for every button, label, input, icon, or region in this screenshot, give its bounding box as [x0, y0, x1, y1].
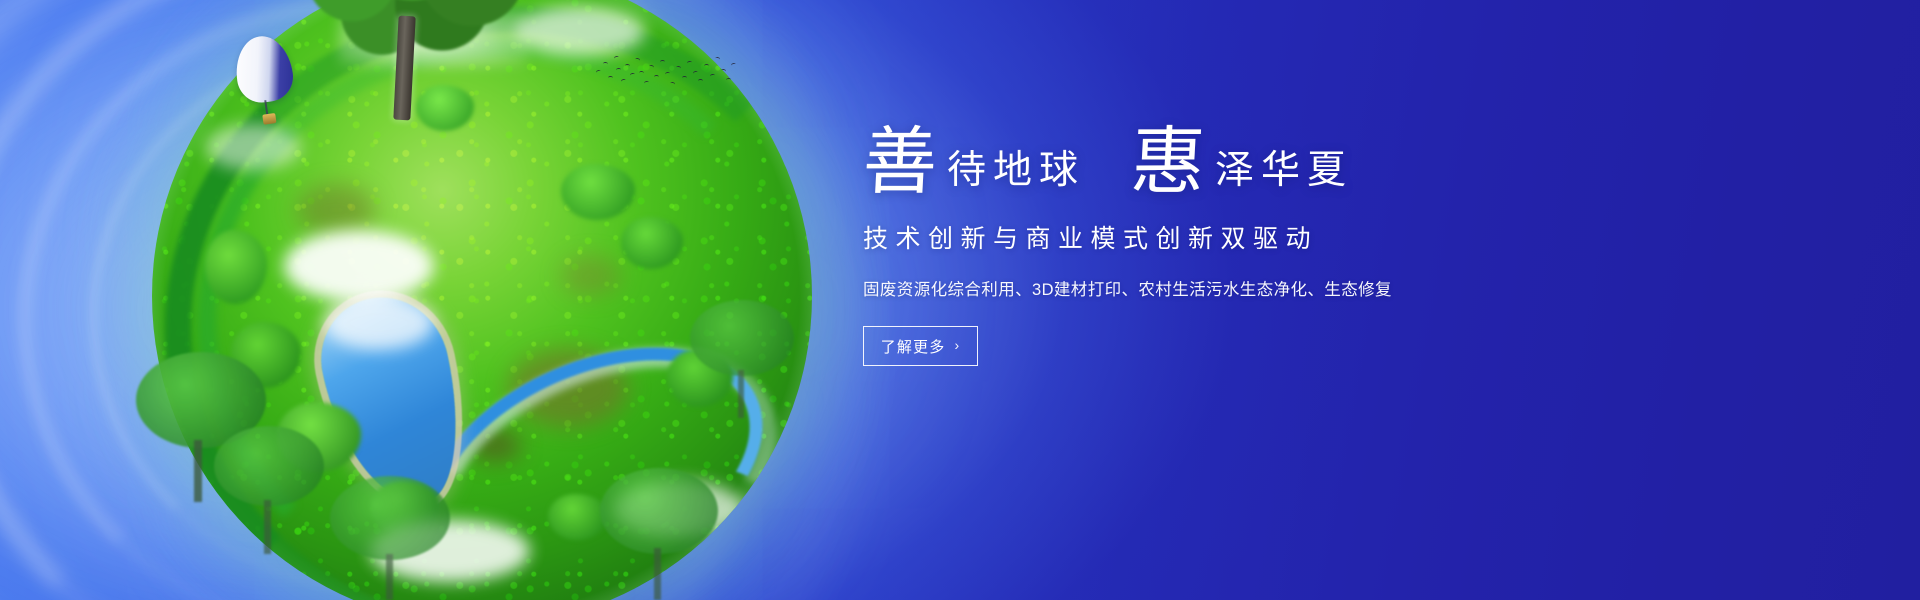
bird-icon	[595, 69, 601, 74]
bird-icon	[603, 62, 608, 66]
balloon-envelope	[232, 33, 297, 106]
bird-flock-icon	[594, 48, 734, 94]
bird-icon	[704, 64, 709, 68]
hero-content: 善 待地球 惠 泽华夏 技术创新与商业模式创新双驱动 固废资源化综合利用、3D建…	[863, 128, 1563, 366]
learn-more-label: 了解更多	[881, 336, 946, 357]
bird-icon	[625, 64, 630, 68]
headline-phrase-2: 惠 泽华夏	[1131, 128, 1353, 199]
small-tree-icon	[690, 300, 794, 418]
cloud	[324, 296, 434, 350]
bird-icon	[614, 55, 620, 60]
bird-icon	[621, 78, 627, 83]
page-title: 善 待地球 惠 泽华夏	[863, 128, 1563, 199]
chevron-right-icon: ›	[954, 337, 960, 353]
bird-icon	[726, 78, 731, 83]
bird-icon	[682, 76, 687, 80]
headline-chars-small: 待地球	[937, 151, 1085, 199]
hero-subtitle: 技术创新与商业模式创新双驱动	[863, 219, 1563, 255]
hero-banner: 善 待地球 惠 泽华夏 技术创新与商业模式创新双驱动 固废资源化综合利用、3D建…	[0, 0, 1920, 600]
headline-chars-small: 泽华夏	[1205, 151, 1353, 199]
balloon-basket	[262, 113, 276, 125]
bird-icon	[710, 74, 716, 79]
bird-icon	[721, 69, 727, 74]
bird-icon	[687, 61, 693, 66]
headline-char-large: 惠	[1129, 128, 1207, 199]
cloud	[284, 230, 434, 302]
bird-icon	[649, 64, 655, 69]
bird-icon	[693, 70, 699, 75]
bird-icon	[644, 81, 650, 86]
bird-icon	[635, 57, 641, 62]
bird-icon	[670, 81, 676, 86]
bird-icon	[639, 71, 644, 75]
headline-phrase-1: 善 待地球	[863, 128, 1085, 199]
bird-icon	[665, 72, 671, 77]
headline-char-large: 善	[861, 128, 939, 199]
hero-description: 固废资源化综合利用、3D建材打印、农村生活污水生态净化、生态修复	[863, 276, 1563, 300]
bird-icon	[698, 79, 703, 83]
tree-crown	[292, 0, 542, 58]
small-tree-icon	[600, 468, 718, 600]
bird-icon	[616, 68, 621, 73]
bird-icon	[654, 75, 659, 79]
tree-cluster	[621, 217, 683, 269]
bird-icon	[660, 60, 665, 64]
bird-icon	[608, 76, 613, 80]
bird-icon	[715, 56, 721, 61]
bird-icon	[630, 72, 636, 77]
small-tree-icon	[214, 426, 324, 556]
small-tree-icon	[330, 476, 450, 600]
tree-icon	[292, 0, 542, 118]
learn-more-button[interactable]: 了解更多 ›	[863, 326, 978, 366]
bird-icon	[676, 66, 682, 71]
